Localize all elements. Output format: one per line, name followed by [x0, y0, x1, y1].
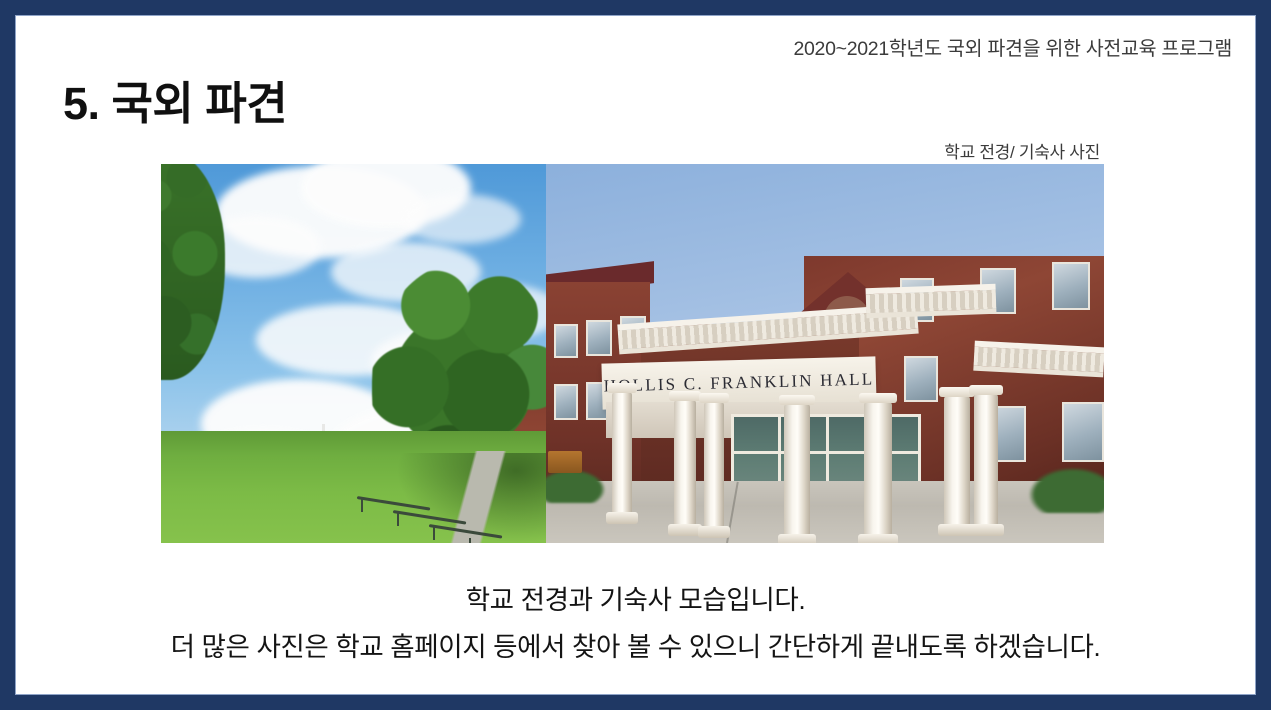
rail-post [469, 538, 471, 543]
portico-column [974, 394, 998, 526]
portico-column [674, 400, 696, 526]
window [904, 356, 938, 402]
shrub [1028, 467, 1104, 513]
walkway-path [414, 451, 534, 543]
window [1052, 262, 1090, 310]
photo-strip: HOLLIS C. FRANKLIN HALL [161, 164, 1104, 543]
window [554, 324, 578, 358]
window [586, 320, 612, 356]
portico-column [784, 404, 810, 536]
window [554, 384, 578, 420]
portico-column [944, 396, 970, 526]
building-name-sign: HOLLIS C. FRANKLIN HALL [602, 369, 876, 396]
rail-post [433, 526, 435, 540]
shrub [546, 469, 606, 503]
bench [548, 451, 582, 473]
portico-column [864, 402, 892, 536]
window [1062, 402, 1104, 462]
cloud-shape [401, 194, 521, 244]
presentation-slide: 2020~2021학년도 국외 파견을 위한 사전교육 프로그램 5. 국외 파… [0, 0, 1271, 710]
rail-post [361, 498, 363, 512]
roof-balustrade [866, 284, 997, 319]
dormitory-photo: HOLLIS C. FRANKLIN HALL [546, 164, 1104, 543]
slide-content-area: 2020~2021학년도 국외 파견을 위한 사전교육 프로그램 5. 국외 파… [16, 16, 1255, 694]
campus-exterior-photo [161, 164, 546, 543]
portico-column [704, 402, 724, 528]
body-text-line-1: 학교 전경과 기숙사 모습입니다. [16, 578, 1255, 617]
page-title: 5. 국외 파견 [63, 67, 287, 132]
body-text-line-2: 더 많은 사진은 학교 홈페이지 등에서 찾아 볼 수 있으니 간단하게 끝내도… [16, 625, 1255, 664]
photo-caption-label: 학교 전경/ 기숙사 사진 [944, 138, 1100, 163]
rail-post [397, 512, 399, 526]
slide-header-text: 2020~2021학년도 국외 파견을 위한 사전교육 프로그램 [793, 32, 1232, 61]
portico-column [612, 392, 632, 514]
